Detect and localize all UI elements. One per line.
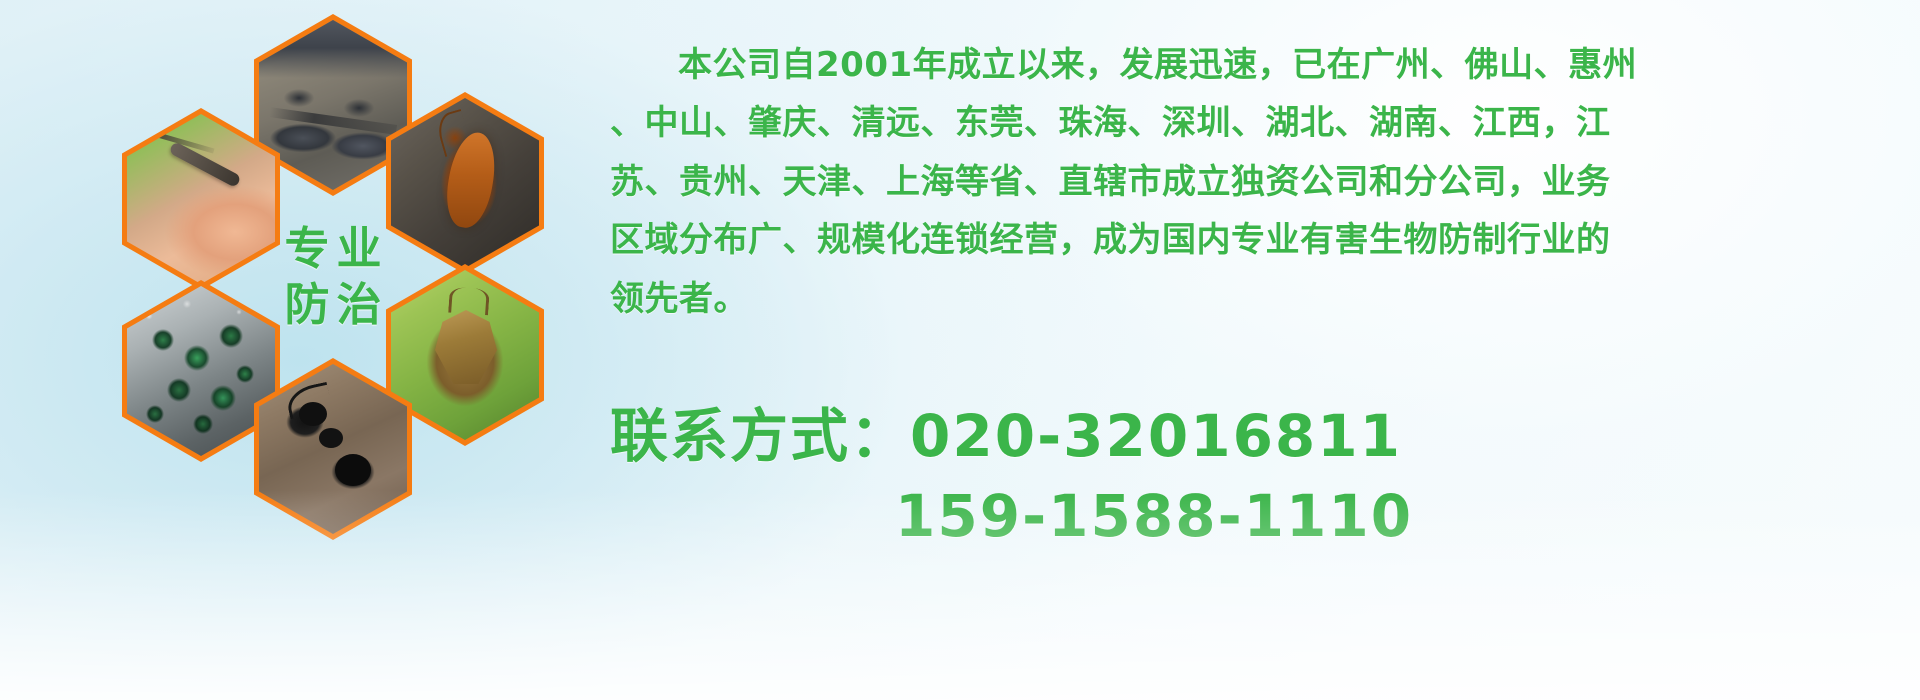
intro-line-3: 苏、贵州、天津、上海等省、直辖市成立独资公司和分公司，业务 [610, 153, 1900, 211]
center-label-line-2: 防治 [277, 280, 388, 330]
rats-photo [259, 20, 407, 190]
company-intro: 本公司自2001年成立以来，发展迅速，已在广州、佛山、惠州 、中山、肇庆、清远、… [610, 36, 1900, 328]
contact-mobile[interactable]: 159-1588-1110 [610, 476, 1910, 556]
center-label-line-1: 专业 [277, 224, 388, 274]
contact-block: 联系方式：020-32016811 159-1588-1110 [610, 396, 1910, 556]
hex-photo-cockroach [391, 98, 539, 268]
flies-photo [127, 286, 275, 456]
intro-line-5: 领先者。 [610, 270, 1900, 328]
promo-banner: 专业 防治 本公司自2001年成立以来，发展迅速，已在广州、佛山、惠州 、中山、… [0, 0, 1920, 700]
ants-photo [259, 364, 407, 534]
hex-photo-mosquito [127, 114, 275, 284]
intro-line-1: 本公司自2001年成立以来，发展迅速，已在广州、佛山、惠州 [610, 36, 1900, 94]
honeycomb-collage: 专业 防治 [96, 8, 596, 568]
hex-photo-ants [259, 364, 407, 534]
cockroach-photo [391, 98, 539, 268]
hex-photo-flies [127, 286, 275, 456]
hex-photo-rats [259, 20, 407, 190]
intro-line-2: 、中山、肇庆、清远、东莞、珠海、深圳、湖北、湖南、江西，江 [610, 94, 1900, 152]
hex-photo-stink-bug [391, 270, 539, 440]
intro-paragraph: 本公司自2001年成立以来，发展迅速，已在广州、佛山、惠州 、中山、肇庆、清远、… [610, 36, 1900, 328]
intro-line-4: 区域分布广、规模化连锁经营，成为国内专业有害生物防制行业的 [610, 211, 1900, 269]
mosquito-photo [127, 114, 275, 284]
stink-bug-photo [391, 270, 539, 440]
contact-landline[interactable]: 联系方式：020-32016811 [610, 396, 1910, 476]
honeycomb-center-label: 专业 防治 [254, 186, 412, 368]
